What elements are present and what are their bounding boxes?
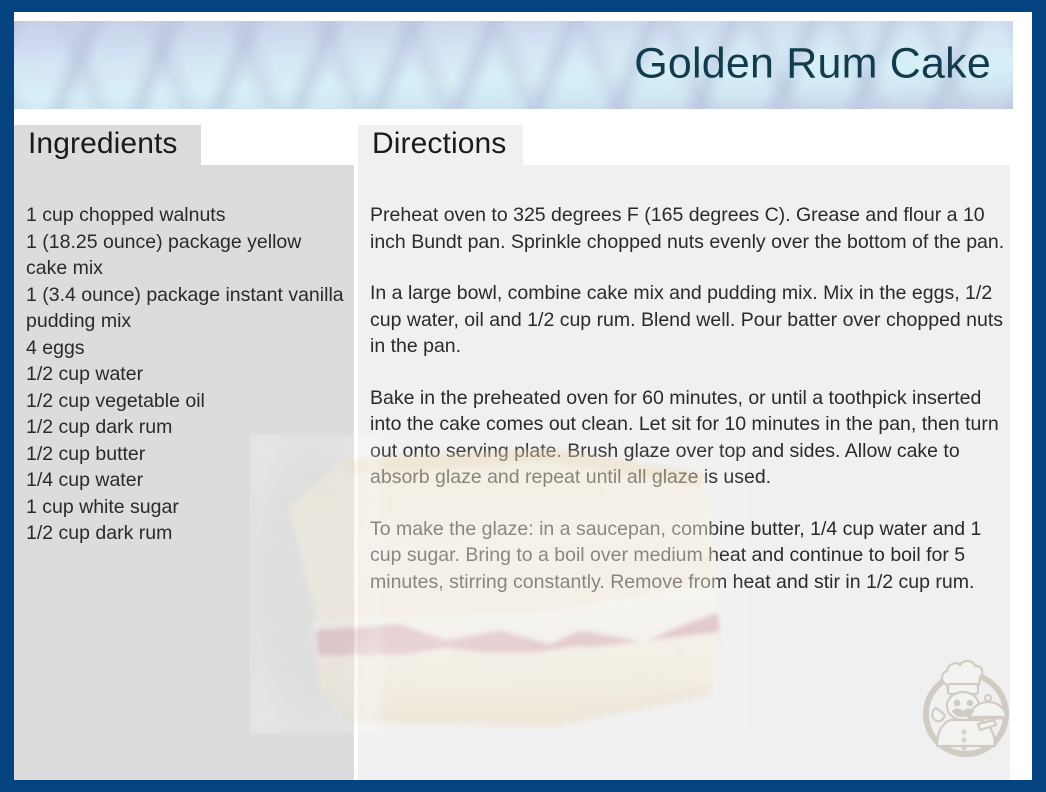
ingredients-heading-notch [201, 125, 354, 165]
recipe-page: Golden Rum Cake Ingredients 1 cup choppe… [14, 12, 1032, 780]
directions-panel: Directions Preheat oven to 325 degrees F… [358, 125, 1010, 780]
ingredients-panel: Ingredients 1 cup chopped walnuts 1 (18.… [14, 125, 354, 780]
page-title: Golden Rum Cake [634, 40, 991, 89]
ingredients-heading: Ingredients [28, 127, 178, 161]
title-banner: Golden Rum Cake [14, 21, 1013, 109]
ingredients-list: 1 cup chopped walnuts 1 (18.25 ounce) pa… [26, 202, 344, 547]
direction-step: To make the glaze: in a saucepan, combin… [370, 516, 1018, 596]
direction-step: In a large bowl, combine cake mix and pu… [370, 280, 1018, 360]
direction-step: Bake in the preheated oven for 60 minute… [370, 385, 1018, 491]
direction-step: Preheat oven to 325 degrees F (165 degre… [370, 202, 1018, 255]
directions-heading-notch [523, 125, 1010, 165]
directions-steps: Preheat oven to 325 degrees F (165 degre… [370, 202, 1018, 595]
recipe-card: Golden Rum Cake Ingredients 1 cup choppe… [0, 0, 1046, 792]
directions-heading: Directions [372, 127, 506, 161]
